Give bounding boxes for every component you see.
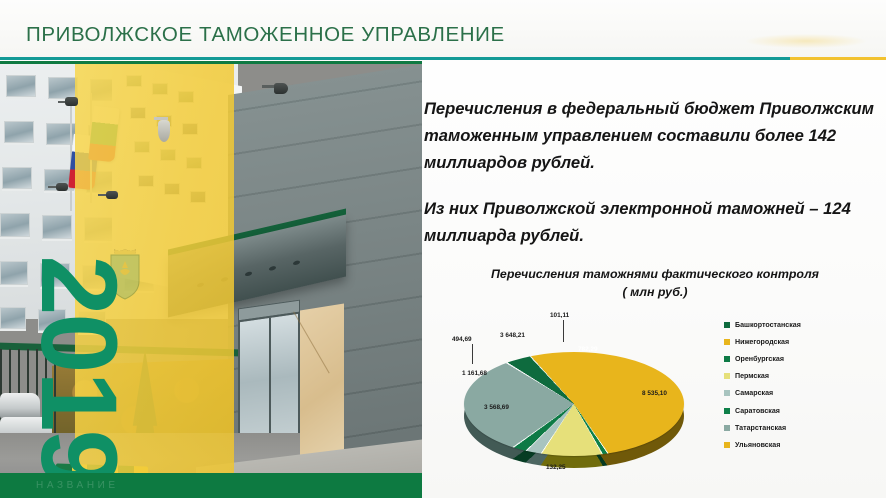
legend-item-nizhegorodskaya[interactable]: Нижегородская (724, 333, 886, 350)
page-title: ПРИВОЛЖСКОЕ ТАМОЖЕННОЕ УПРАВЛЕНИЕ (26, 23, 505, 47)
photo-top-border (0, 61, 422, 64)
legend-label: Оренбургская (735, 355, 784, 363)
legend-item-permskaya[interactable]: Пермская (724, 368, 886, 385)
pie-leader-line-saratovskaya (472, 344, 473, 364)
building-window (4, 121, 34, 143)
legend-label: Татарстанская (735, 424, 786, 432)
pie-label-tatarstanskaya: 3 648,21 (500, 332, 525, 339)
legend-item-saratovskaya[interactable]: Саратовская (724, 402, 886, 419)
legend-label: Самарская (735, 389, 773, 397)
pie-label-samarskaya: 1 161,68 (462, 370, 487, 377)
legend-label: Нижегородская (735, 338, 789, 346)
building-window (48, 77, 78, 99)
legend-swatch-icon (724, 339, 730, 345)
legend-swatch-icon (724, 390, 730, 396)
pie-label-nizhegorodskaya: 8 535,10 (642, 390, 667, 397)
security-camera-icon (48, 183, 68, 193)
security-camera-icon (58, 97, 78, 109)
header-divider (0, 57, 886, 60)
legend-label: Башкортостанская (735, 321, 801, 329)
pie-plot-area: 8 535,10 782,29 101,11 3 648,21 494,69 1… (446, 308, 702, 486)
security-camera-icon (262, 83, 288, 99)
legend-label: Саратовская (735, 407, 780, 415)
legend-label: Пермская (735, 372, 769, 380)
pie-label-saratovskaya: 494,69 (452, 336, 472, 343)
body-text-block: Перечисления в федеральный бюджет Привол… (424, 96, 876, 249)
legend-swatch-icon (724, 356, 730, 362)
pie-label-bashkortostanskaya: 782,29 (578, 346, 598, 353)
legend-swatch-icon (724, 442, 730, 448)
pie-label-ulyanovskaya: 101,11 (550, 312, 569, 319)
chart-title: Перечисления таможнями фактического конт… (424, 266, 886, 301)
header-glow-decoration (746, 34, 866, 48)
building-photo: 2019 НАЗВАНИЕ (0, 61, 422, 498)
legend-label: Ульяновская (735, 441, 780, 449)
legend-item-orenburgskaya[interactable]: Оренбургская (724, 350, 886, 367)
security-camera-icon (98, 191, 118, 201)
legend-item-ulyanovskaya[interactable]: Ульяновская (724, 436, 886, 453)
year-label: 2019 (0, 153, 159, 498)
body-paragraph-1: Перечисления в федеральный бюджет Привол… (424, 96, 876, 177)
chart-title-line-2: ( млн руб.) (424, 284, 886, 302)
legend-item-bashkortostanskaya[interactable]: Башкортостанская (724, 316, 886, 333)
pie-chart: Перечисления таможнями фактического конт… (424, 266, 886, 492)
legend-swatch-icon (724, 425, 730, 431)
pie-label-orenburgskaya: 132,25 (546, 464, 566, 471)
photo-bottom-strip: НАЗВАНИЕ (0, 473, 422, 498)
photo-strip-placeholder-label: НАЗВАНИЕ (36, 480, 119, 491)
slide-header: ПРИВОЛЖСКОЕ ТАМОЖЕННОЕ УПРАВЛЕНИЕ (0, 0, 886, 60)
pie-label-permskaya: 3 568,69 (484, 404, 509, 411)
header-divider-gold-segment (790, 57, 886, 60)
chart-legend: Башкортостанская Нижегородская Оренбургс… (724, 316, 886, 454)
chart-title-line-1: Перечисления таможнями фактического конт… (424, 266, 886, 284)
legend-swatch-icon (724, 408, 730, 414)
building-window (6, 75, 36, 97)
legend-item-samarskaya[interactable]: Самарская (724, 385, 886, 402)
slide: ПРИВОЛЖСКОЕ ТАМОЖЕННОЕ УПРАВЛЕНИЕ (0, 0, 886, 498)
legend-swatch-icon (724, 322, 730, 328)
legend-swatch-icon (724, 373, 730, 379)
header-divider-teal-segment (0, 57, 790, 60)
legend-item-tatarstanskaya[interactable]: Татарстанская (724, 419, 886, 436)
pie-leader-line-ulyanovskaya (563, 320, 564, 342)
body-paragraph-2: Из них Приволжской электронной таможней … (424, 196, 876, 250)
security-camera-icon (152, 117, 174, 147)
